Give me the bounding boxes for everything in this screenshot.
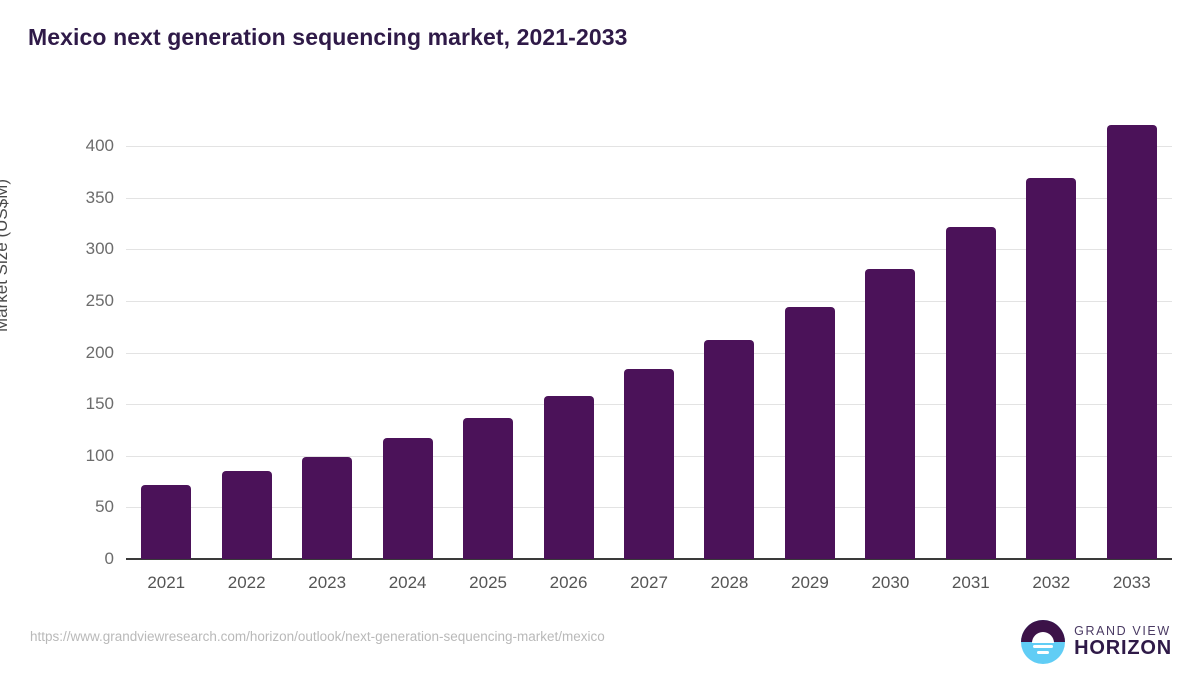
y-axis-tick-label: 350 <box>24 188 114 208</box>
bar-slot <box>126 105 206 559</box>
x-axis-tick-label: 2029 <box>770 573 850 593</box>
x-axis-tick-label: 2030 <box>850 573 930 593</box>
bar-slot <box>850 105 930 559</box>
grand-view-horizon-logo[interactable]: GRAND VIEW HORIZON <box>1021 620 1172 664</box>
x-axis-tick-label: 2025 <box>448 573 528 593</box>
page-title: Mexico next generation sequencing market… <box>28 24 628 51</box>
bar-2027[interactable] <box>624 369 674 559</box>
source-url[interactable]: https://www.grandviewresearch.com/horizo… <box>30 629 605 644</box>
bar-2031[interactable] <box>946 227 996 559</box>
y-axis-tick-label: 400 <box>24 136 114 156</box>
bar-2023[interactable] <box>302 457 352 559</box>
bar-slot <box>206 105 286 559</box>
bar-slot <box>367 105 447 559</box>
x-axis-tick-label: 2023 <box>287 573 367 593</box>
bar-slot <box>609 105 689 559</box>
x-axis-tick-label: 2031 <box>931 573 1011 593</box>
bar-2029[interactable] <box>785 307 835 559</box>
horizon-sun-icon <box>1021 620 1065 664</box>
x-axis-tick-label: 2027 <box>609 573 689 593</box>
y-axis-tick-label: 150 <box>24 394 114 414</box>
logo-bottom-text: HORIZON <box>1074 638 1172 659</box>
bar-2025[interactable] <box>463 418 513 559</box>
bar-2033[interactable] <box>1107 125 1157 559</box>
bar-2026[interactable] <box>544 396 594 559</box>
bar-slot <box>448 105 528 559</box>
x-axis-tick-label: 2028 <box>689 573 769 593</box>
bar-2022[interactable] <box>222 471 272 559</box>
x-axis-tick-label: 2024 <box>367 573 447 593</box>
x-axis-tick-label: 2026 <box>528 573 608 593</box>
bar-slot <box>931 105 1011 559</box>
bar-slot <box>1092 105 1172 559</box>
bar-2024[interactable] <box>383 438 433 559</box>
bar-slot <box>1011 105 1091 559</box>
bar-2032[interactable] <box>1026 178 1076 559</box>
x-axis-tick-label: 2032 <box>1011 573 1091 593</box>
bar-slot <box>528 105 608 559</box>
bar-slot <box>770 105 850 559</box>
y-axis-tick-label: 300 <box>24 239 114 259</box>
bar-2028[interactable] <box>704 340 754 559</box>
y-axis-tick-label: 50 <box>24 497 114 517</box>
y-axis-tick-label: 250 <box>24 291 114 311</box>
y-axis-tick-label: 200 <box>24 343 114 363</box>
bar-series <box>126 105 1172 559</box>
x-axis-tick-label: 2022 <box>206 573 286 593</box>
bar-slot <box>287 105 367 559</box>
logo-wordmark: GRAND VIEW HORIZON <box>1074 625 1172 659</box>
y-axis-tick-label: 100 <box>24 446 114 466</box>
bar-2030[interactable] <box>865 269 915 559</box>
bar-2021[interactable] <box>141 485 191 559</box>
x-axis-tick-label: 2021 <box>126 573 206 593</box>
x-axis-tick-label: 2033 <box>1092 573 1172 593</box>
chart-page: Mexico next generation sequencing market… <box>0 0 1200 675</box>
bar-slot <box>689 105 769 559</box>
y-axis-tick-label: 0 <box>24 549 114 569</box>
y-axis-title: Market Size (US$M) <box>0 179 12 332</box>
